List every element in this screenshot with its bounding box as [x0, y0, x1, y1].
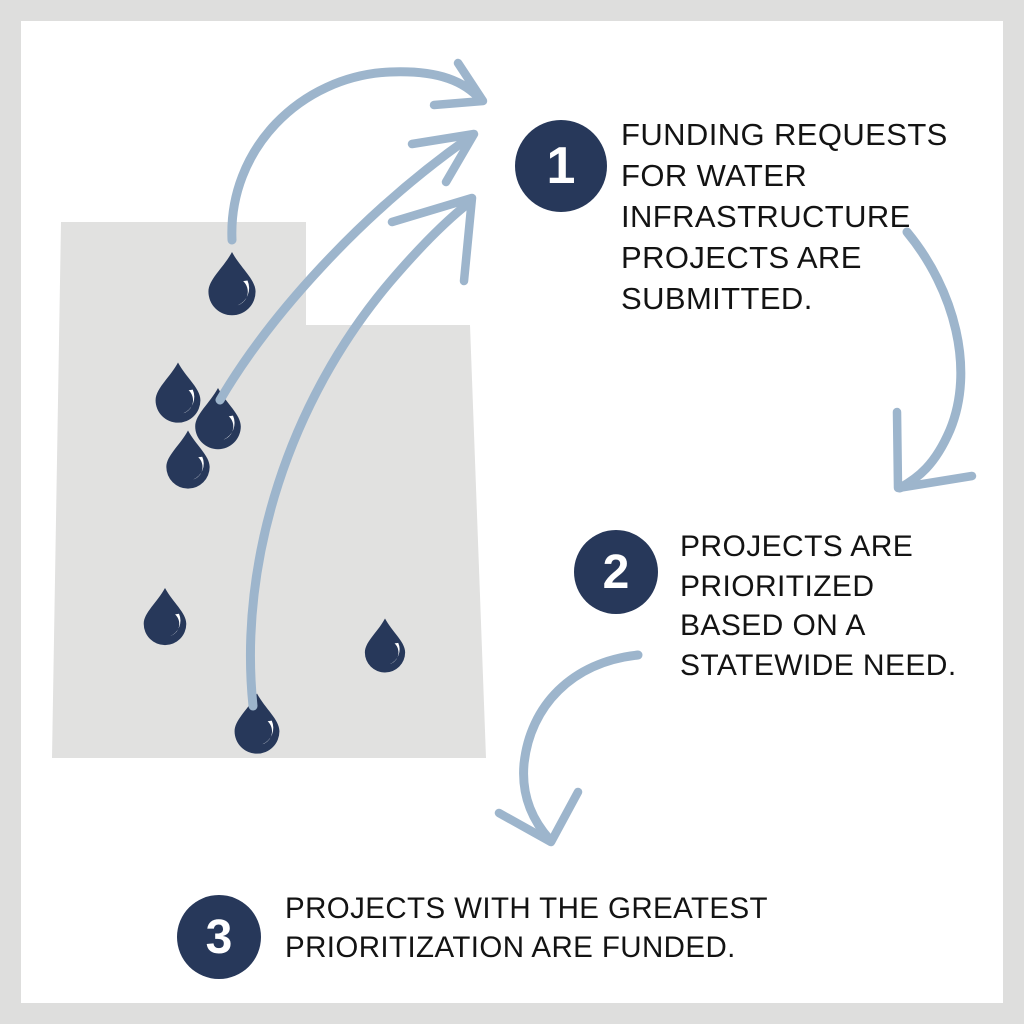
infographic-canvas: 1 2 3 FUNDING REQUESTS FOR WATER INFRAST…: [21, 21, 1003, 1003]
step-number-badge-2: 2: [574, 530, 658, 614]
infographic-root: 1 2 3 FUNDING REQUESTS FOR WATER INFRAST…: [0, 0, 1024, 1024]
step-number-2: 2: [603, 545, 630, 600]
step-number-3: 3: [206, 910, 233, 965]
step-3-description: PROJECTS WITH THE GREATEST PRIORITIZATIO…: [285, 890, 865, 968]
step-number-1: 1: [547, 136, 576, 196]
step-number-badge-1: 1: [515, 120, 607, 212]
step-2-description: PROJECTS ARE PRIORITIZED BASED ON A STAT…: [680, 527, 1003, 685]
step-1-description: FUNDING REQUESTS FOR WATER INFRASTRUCTUR…: [621, 115, 1003, 320]
arrow-step2-to-step3: [499, 655, 638, 842]
utah-map-shape: [52, 222, 486, 758]
step-number-badge-3: 3: [177, 895, 261, 979]
